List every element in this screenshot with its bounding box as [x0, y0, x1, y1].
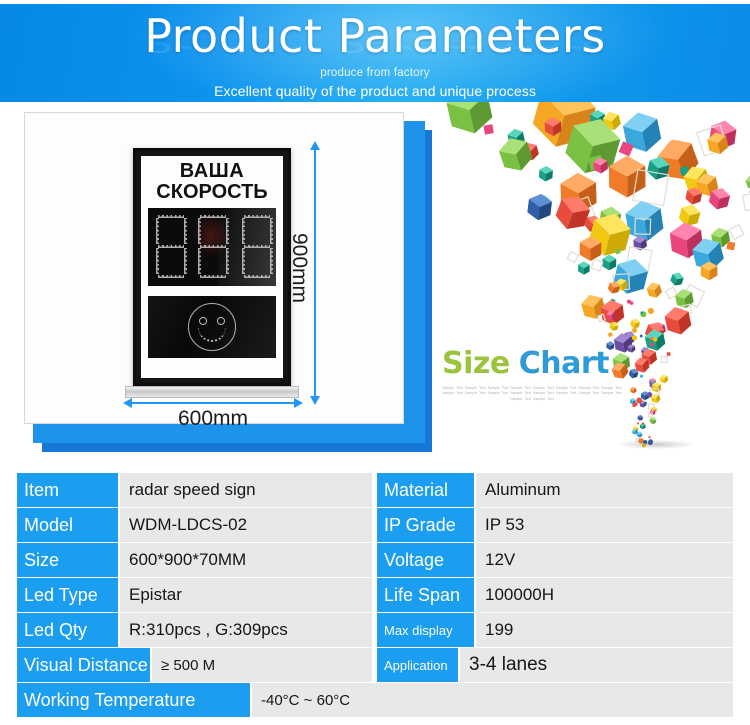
spec-cell-pair-right: IP GradeIP 53: [377, 508, 733, 542]
spec-cell-pair-left: Itemradar speed sign: [17, 473, 372, 507]
cube-cluster-graphic: [432, 102, 750, 460]
size-chart-word-1: Size: [442, 346, 510, 381]
spec-cell-pair-left: Led TypeEpistar: [17, 578, 372, 612]
height-dimension-label: 900mm: [287, 233, 311, 303]
spec-cell-pair-right: MaterialAluminum: [377, 473, 733, 507]
spec-value: radar speed sign: [120, 473, 372, 507]
spec-label: Led Qty: [17, 613, 118, 647]
sign-caption-line-2: СКОРОСТЬ: [141, 182, 283, 202]
spec-value: WDM-LDCS-02: [120, 508, 372, 542]
size-chart-decoration: SizeChart Sample Text Sample Text Sample…: [432, 102, 750, 460]
spec-value: 100000H: [476, 578, 733, 612]
spec-label: Life Span: [377, 578, 474, 612]
sign-face: ВАША СКОРОСТЬ: [141, 156, 283, 378]
size-chart-word-2: Chart: [519, 346, 609, 381]
spec-cell-pair-left: Led QtyR:310pcs , G:309pcs: [17, 613, 372, 647]
table-row: Led QtyR:310pcs , G:309pcsMax display199: [17, 613, 733, 647]
table-row: Size600*900*70MMVoltage12V: [17, 543, 733, 577]
spec-cell-pair-full: Working Temperature-40°C ~ 60°C: [17, 683, 733, 717]
spec-value: R:310pcs , G:309pcs: [120, 613, 372, 647]
table-row: Working Temperature-40°C ~ 60°C: [17, 683, 733, 717]
header-subtitle-2: Excellent quality of the product and uni…: [0, 83, 750, 99]
sign-caption-line-1: ВАША: [141, 161, 283, 181]
spec-value: ≥ 500 M: [152, 648, 372, 682]
product-image-card: ВАША СКОРОСТЬ: [24, 112, 434, 452]
led-digit-panel: [148, 208, 276, 286]
size-chart-title: SizeChart: [442, 346, 609, 381]
led-digit-1: [154, 214, 188, 280]
size-chart-sample-text: Sample Text Sample Text Sample Text Samp…: [442, 386, 622, 402]
table-row: ModelWDM-LDCS-02IP GradeIP 53: [17, 508, 733, 542]
spec-label: Size: [17, 543, 118, 577]
spec-label: Voltage: [377, 543, 474, 577]
page-title: Product Parameters: [0, 12, 750, 60]
width-dimension-label: 600mm: [130, 407, 296, 431]
spec-cell-pair-right: Life Span100000H: [377, 578, 733, 612]
radar-speed-sign-device: ВАША СКОРОСТЬ: [133, 148, 291, 386]
header-subtitle-1: produce from factory: [0, 67, 750, 79]
spec-cell-pair-right: Voltage12V: [377, 543, 733, 577]
height-dimension-arrow: [314, 148, 316, 398]
product-photo-panel: ВАША СКОРОСТЬ: [24, 112, 404, 424]
spec-value: IP 53: [476, 508, 733, 542]
spec-value: 600*900*70MM: [120, 543, 372, 577]
spec-label: Application: [377, 648, 458, 682]
width-dimension-arrow: [130, 402, 296, 404]
table-row: Led TypeEpistarLife Span100000H: [17, 578, 733, 612]
header-banner: Product Parameters Product Parameters pr…: [0, 4, 750, 102]
spec-cell-pair-left: Size600*900*70MM: [17, 543, 372, 577]
spec-label: Led Type: [17, 578, 118, 612]
spec-value: 3-4 lanes: [460, 648, 733, 682]
spec-label: Working Temperature: [17, 683, 250, 717]
spec-cell-pair-left: ModelWDM-LDCS-02: [17, 508, 372, 542]
smiley-panel-reflection: [148, 296, 276, 358]
cube-drop-shadow: [617, 440, 695, 449]
spec-value: 12V: [476, 543, 733, 577]
spec-label: IP Grade: [377, 508, 474, 542]
table-row: Itemradar speed signMaterialAluminum: [17, 473, 733, 507]
spec-value: 199: [476, 613, 733, 647]
spec-label: Item: [17, 473, 118, 507]
table-row: Visual Distance≥ 500 MApplication3-4 lan…: [17, 648, 733, 682]
spec-cell-pair-left: Visual Distance≥ 500 M: [17, 648, 372, 682]
smiley-face-panel: [148, 296, 276, 358]
led-panel-reflection: [218, 208, 276, 286]
specification-table: Itemradar speed signMaterialAluminumMode…: [17, 473, 733, 718]
spec-label: Visual Distance: [17, 648, 150, 682]
product-parameters-page: Product Parameters Product Parameters pr…: [0, 0, 750, 725]
spec-value: -40°C ~ 60°C: [252, 683, 733, 717]
spec-label: Max display: [377, 613, 474, 647]
spec-value: Aluminum: [476, 473, 733, 507]
sign-caption: ВАША СКОРОСТЬ: [141, 161, 283, 202]
spec-cell-pair-right: Application3-4 lanes: [377, 648, 733, 682]
spec-label: Material: [377, 473, 474, 507]
spec-value: Epistar: [120, 578, 372, 612]
spec-cell-pair-right: Max display199: [377, 613, 733, 647]
spec-label: Model: [17, 508, 118, 542]
sign-base-bracket: [125, 386, 299, 398]
